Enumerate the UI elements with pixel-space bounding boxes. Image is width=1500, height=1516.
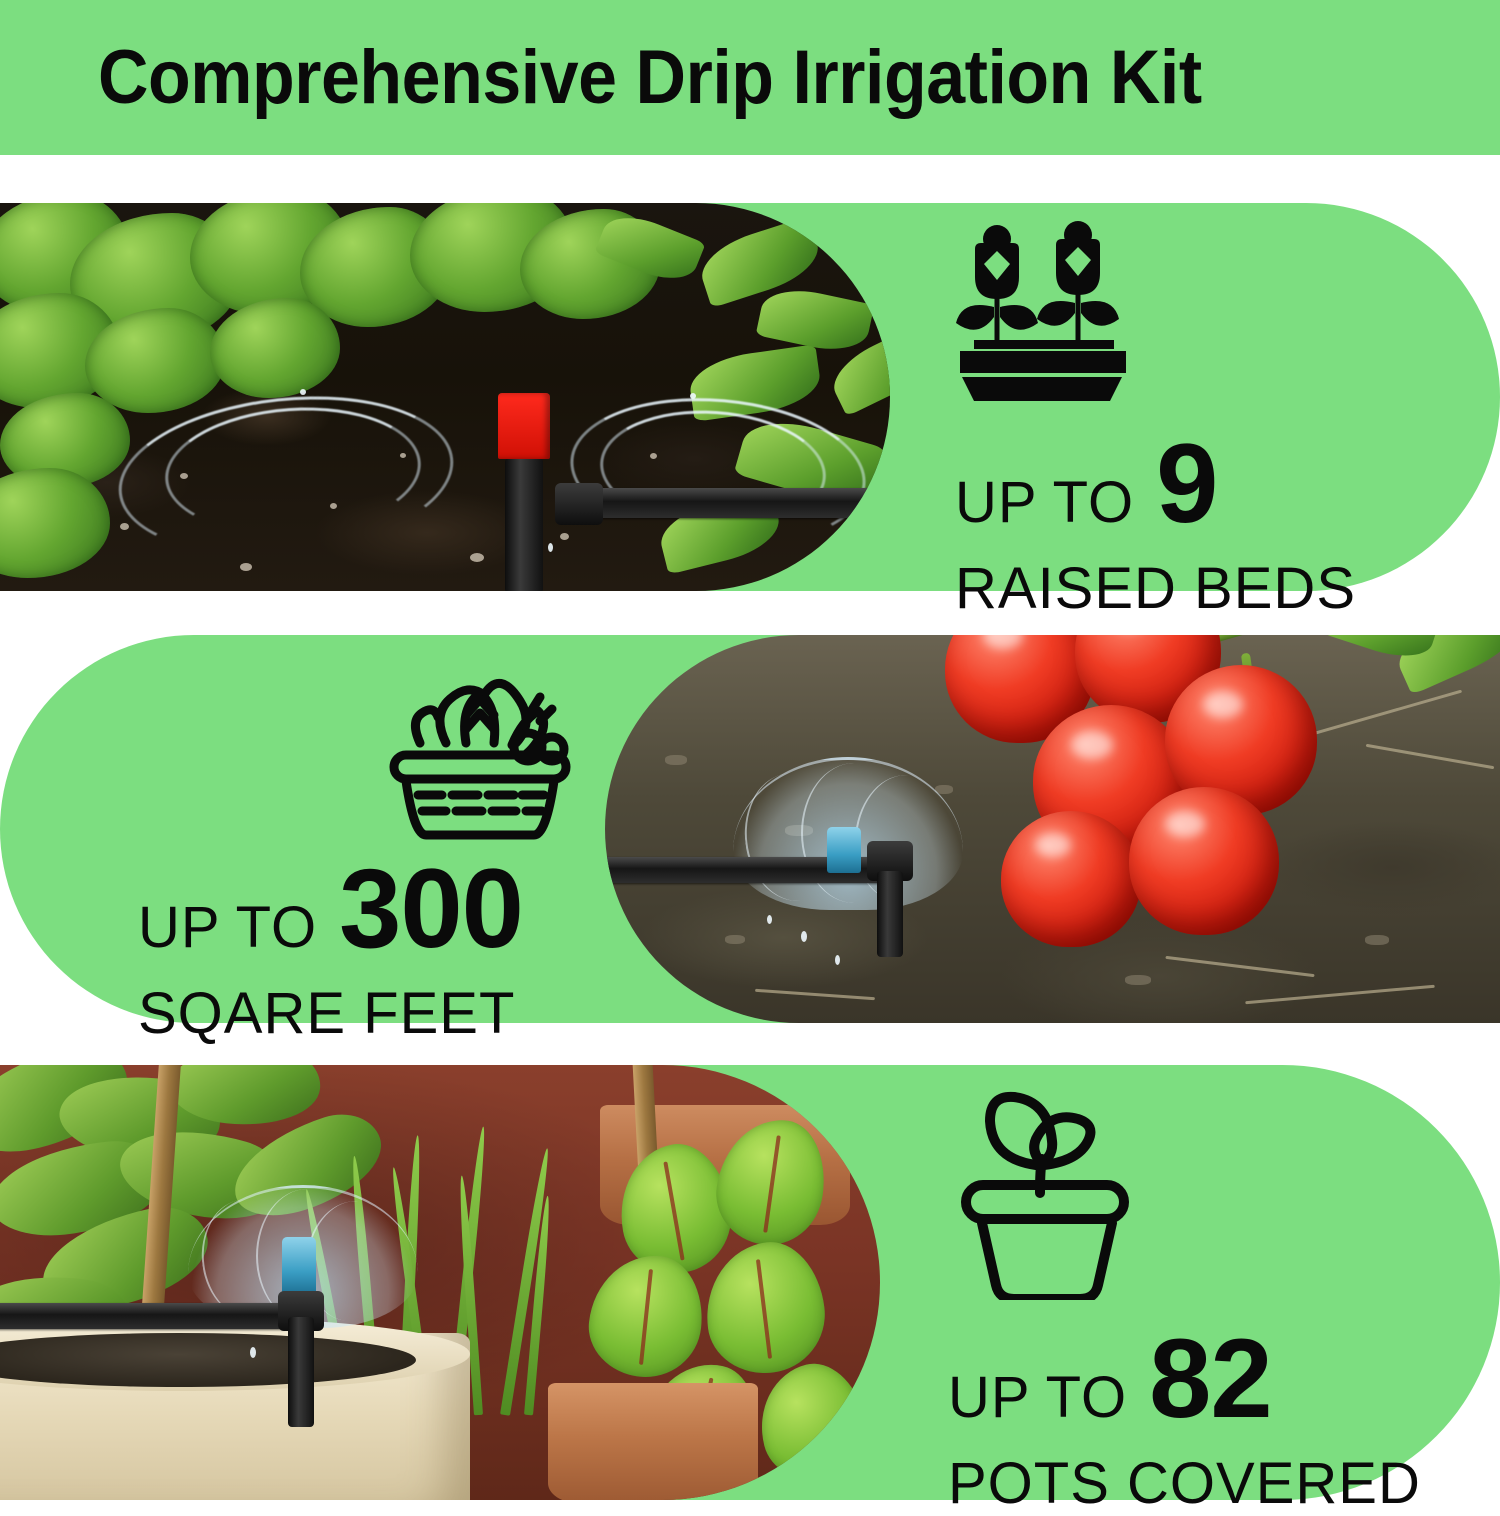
page-title: Comprehensive Drip Irrigation Kit <box>98 34 1202 121</box>
tulips-in-planter-icon <box>955 221 1130 401</box>
stat-caption-raised-beds: RAISED BEDS <box>955 560 1356 618</box>
stat-pots-covered: UP TO 82 POTS COVERED <box>948 1323 1421 1513</box>
vegetable-basket-icon <box>380 651 580 841</box>
photo-pots-covered <box>0 1065 880 1500</box>
infographic-root: Comprehensive Drip Irrigation Kit <box>0 0 1500 1500</box>
potted-seedling-icon <box>948 1085 1148 1300</box>
photo-square-feet <box>605 635 1500 1023</box>
stat-caption-square-feet: SQARE FEET <box>138 985 523 1043</box>
stat-square-feet: UP TO 300 SQARE FEET <box>138 853 523 1043</box>
upto-label-pots-covered: UP TO <box>948 1369 1127 1427</box>
feature-row-pots-covered: UP TO 82 POTS COVERED <box>0 1065 1500 1500</box>
stat-caption-pots-covered: POTS COVERED <box>948 1455 1421 1513</box>
upto-label-raised-beds: UP TO <box>955 474 1134 532</box>
stat-number-raised-beds: 9 <box>1156 428 1217 540</box>
stat-number-pots-covered: 82 <box>1149 1323 1272 1435</box>
photo-raised-beds <box>0 203 890 591</box>
feature-row-raised-beds: UP TO 9 RAISED BEDS <box>0 203 1500 591</box>
stat-raised-beds: UP TO 9 RAISED BEDS <box>955 428 1356 618</box>
stat-number-square-feet: 300 <box>339 853 523 965</box>
feature-row-square-feet: UP TO 300 SQARE FEET <box>0 635 1500 1023</box>
header-band: Comprehensive Drip Irrigation Kit <box>0 0 1500 155</box>
upto-label-square-feet: UP TO <box>138 899 317 957</box>
